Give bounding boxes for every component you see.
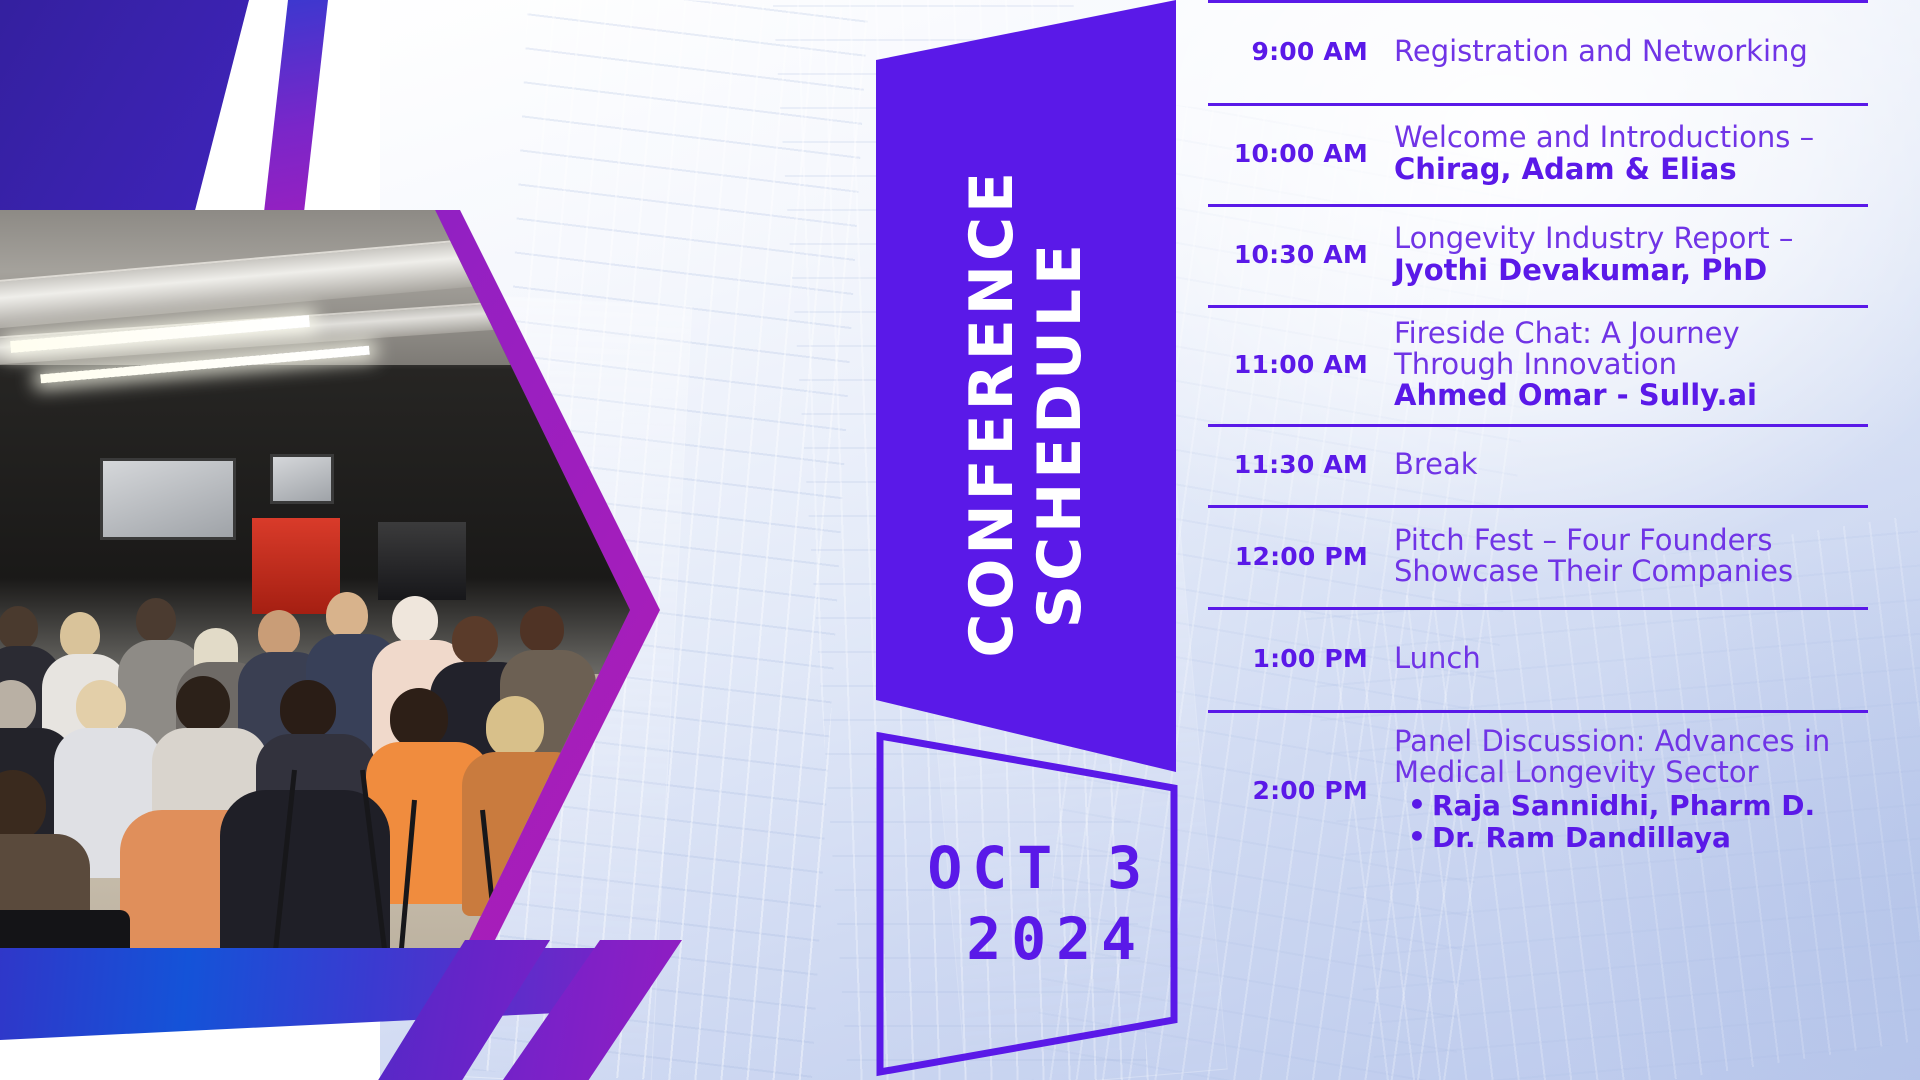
- schedule-row-title: Fireside Chat: A Journey Through Innovat…: [1394, 318, 1868, 380]
- photo-person-head: [452, 616, 498, 664]
- conference-schedule-poster: CONFERENCE SCHEDULE OCT 3 2024 9:00 AMRe…: [0, 0, 1920, 1080]
- schedule-row-description: Registration and Networking: [1394, 36, 1868, 67]
- date-badge: OCT 3 2024: [872, 728, 1182, 1080]
- schedule-row-description: Longevity Industry Report –Jyothi Devaku…: [1394, 223, 1868, 285]
- schedule-row-title: Panel Discussion: Advances in Medical Lo…: [1394, 726, 1868, 788]
- photo-person-head: [280, 680, 336, 738]
- schedule-row-title: Welcome and Introductions –: [1394, 122, 1868, 153]
- photo-person-head: [390, 688, 448, 748]
- photo-person-head: [60, 612, 100, 658]
- schedule-row[interactable]: 12:00 PMPitch Fest – Four Founders Showc…: [1208, 505, 1868, 607]
- diagonal-stripe: [262, 0, 328, 230]
- date-line-1: OCT 3: [927, 833, 1152, 904]
- schedule-row-speaker: Ahmed Omar - Sully.ai: [1394, 380, 1868, 411]
- photo-monitor-1: [100, 458, 236, 540]
- photo-person-head: [258, 610, 300, 656]
- schedule-row[interactable]: 10:30 AMLongevity Industry Report –Jyoth…: [1208, 204, 1868, 305]
- schedule-row[interactable]: 11:00 AMFireside Chat: A Journey Through…: [1208, 305, 1868, 424]
- photo-person-head: [326, 592, 368, 638]
- photo-person-head: [0, 606, 38, 650]
- schedule-row-time: 10:30 AM: [1208, 240, 1394, 269]
- schedule-row-time: 11:00 AM: [1208, 350, 1394, 379]
- photo-red-toolchest: [252, 518, 340, 614]
- schedule-row-time: 10:00 AM: [1208, 139, 1394, 168]
- schedule-row-time: 2:00 PM: [1208, 776, 1394, 805]
- schedule-row-speaker-item: Raja Sannidhi, Pharm D.: [1432, 790, 1868, 822]
- schedule-list: 9:00 AMRegistration and Networking10:00 …: [1208, 0, 1908, 1080]
- photo-person-head: [76, 680, 126, 732]
- photo-equipment-rack: [378, 522, 466, 600]
- photo-monitor-2: [270, 454, 334, 504]
- photo-person-head: [520, 606, 564, 652]
- conference-title-panel: [876, 0, 1176, 772]
- schedule-row-description: Fireside Chat: A Journey Through Innovat…: [1394, 318, 1868, 411]
- photo-person-head: [392, 596, 438, 644]
- schedule-row-title: Lunch: [1394, 643, 1868, 674]
- schedule-row-description: Lunch: [1394, 643, 1868, 674]
- photo-person-head: [176, 676, 230, 732]
- schedule-row-time: 11:30 AM: [1208, 450, 1394, 479]
- schedule-row-title: Pitch Fest – Four Founders Showcase Thei…: [1394, 525, 1868, 587]
- schedule-row[interactable]: 1:00 PMLunch: [1208, 607, 1868, 710]
- schedule-row[interactable]: 2:00 PMPanel Discussion: Advances in Med…: [1208, 710, 1868, 870]
- schedule-row-speaker-list: Raja Sannidhi, Pharm D.Dr. Ram Dandillay…: [1394, 790, 1868, 854]
- schedule-row-time: 1:00 PM: [1208, 644, 1394, 673]
- schedule-row-speaker: Jyothi Devakumar, PhD: [1394, 255, 1868, 286]
- schedule-row-time: 9:00 AM: [1208, 37, 1394, 66]
- schedule-row-time: 12:00 PM: [1208, 542, 1394, 571]
- schedule-row[interactable]: 10:00 AMWelcome and Introductions –Chira…: [1208, 103, 1868, 204]
- photo-person-head: [486, 696, 544, 758]
- photo-person-head: [136, 598, 176, 642]
- schedule-row[interactable]: 11:30 AMBreak: [1208, 424, 1868, 505]
- date-badge-text: OCT 3 2024: [872, 728, 1182, 1080]
- date-line-2: 2024: [966, 904, 1146, 975]
- schedule-row-description: Panel Discussion: Advances in Medical Lo…: [1394, 726, 1868, 854]
- schedule-row-description: Break: [1394, 449, 1868, 480]
- schedule-row-speaker-item: Dr. Ram Dandillaya: [1432, 822, 1868, 854]
- schedule-row[interactable]: 9:00 AMRegistration and Networking: [1208, 0, 1868, 103]
- schedule-row-title: Registration and Networking: [1394, 36, 1868, 67]
- schedule-row-speaker: Chirag, Adam & Elias: [1394, 154, 1868, 185]
- schedule-row-title: Longevity Industry Report –: [1394, 223, 1868, 254]
- schedule-row-description: Welcome and Introductions –Chirag, Adam …: [1394, 122, 1868, 184]
- schedule-divider: [1208, 710, 1868, 713]
- schedule-row-description: Pitch Fest – Four Founders Showcase Thei…: [1394, 525, 1868, 587]
- schedule-row-title: Break: [1394, 449, 1868, 480]
